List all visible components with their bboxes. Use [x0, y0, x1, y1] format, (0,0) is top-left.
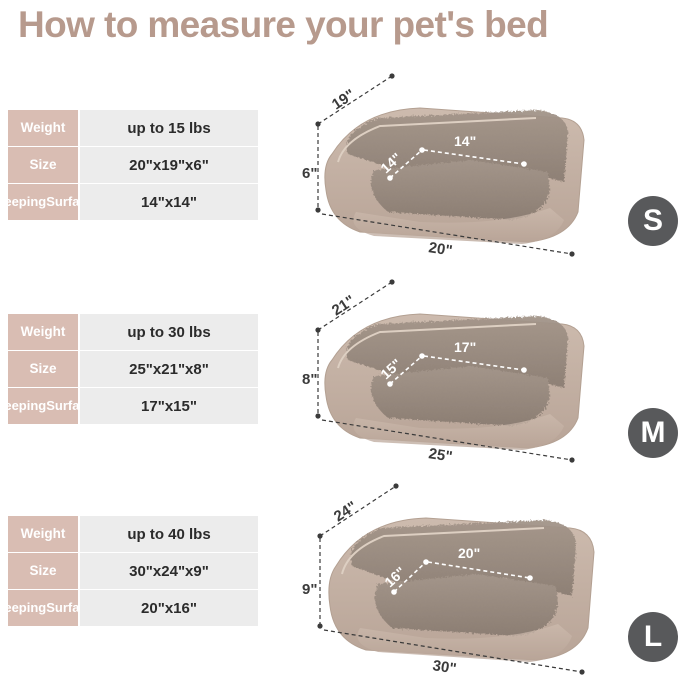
row-label-weight: Weight	[8, 516, 78, 552]
dimension-label-depth: 24"	[331, 498, 360, 525]
row-value-size: 25"x21"x8"	[80, 351, 258, 387]
dimension-label-inner-width: 14"	[454, 133, 476, 149]
bed-diagram-medium: 21" 8" 25" 15" 17"	[300, 268, 620, 468]
bed-diagram-small: 19" 6" 20" 14" 14"	[300, 62, 620, 262]
page-title: How to measure your pet's bed	[18, 4, 668, 46]
row-label-sleeping-surface: Sleeping Surface	[8, 388, 78, 424]
dimension-height: 6"	[302, 126, 321, 213]
table-row-weight: Weight up to 15 lbs	[8, 110, 258, 146]
dimension-label-width: 30"	[431, 657, 457, 678]
sleeping-label-line1: Sleeping	[0, 195, 46, 209]
sleeping-label-line1: Sleeping	[0, 601, 46, 615]
dimension-label-height: 6"	[302, 165, 317, 182]
row-value-size: 20"x19"x6"	[80, 147, 258, 183]
row-value-sleeping-surface: 20"x16"	[80, 590, 258, 626]
row-value-weight: up to 40 lbs	[80, 516, 258, 552]
row-value-weight: up to 30 lbs	[80, 314, 258, 350]
size-badge-medium: M	[628, 408, 678, 458]
dimension-height: 9"	[302, 538, 323, 629]
dimension-label-inner-width: 17"	[454, 339, 476, 355]
bed-illustration-small: 19" 6" 20" 14" 14"	[300, 62, 620, 262]
row-label-weight: Weight	[8, 314, 78, 350]
size-badge-small: S	[628, 196, 678, 246]
dimension-label-depth: 21"	[329, 292, 358, 319]
dimension-height: 8"	[302, 332, 321, 419]
dimension-label-width: 25"	[427, 445, 453, 466]
row-value-weight: up to 15 lbs	[80, 110, 258, 146]
bed-cushion	[371, 366, 550, 426]
dimension-label-width: 20"	[427, 239, 453, 260]
bed-illustration-medium: 21" 8" 25" 15" 17"	[300, 268, 620, 468]
sleeping-label-line1: Sleeping	[0, 399, 46, 413]
row-value-size: 30"x24"x9"	[80, 553, 258, 589]
row-value-sleeping-surface: 14"x14"	[80, 184, 258, 220]
dimension-label-height: 8"	[302, 371, 317, 388]
bed-cushion	[375, 574, 558, 636]
row-label-sleeping-surface: Sleeping Surface	[8, 184, 78, 220]
dimension-label-depth: 19"	[329, 86, 358, 113]
table-row-sleeping-surface: Sleeping Surface 14"x14"	[8, 184, 258, 220]
row-label-size: Size	[8, 553, 78, 589]
bed-cushion	[371, 160, 550, 220]
row-label-sleeping-surface: Sleeping Surface	[8, 590, 78, 626]
row-label-size: Size	[8, 351, 78, 387]
table-row-weight: Weight up to 40 lbs	[8, 516, 258, 552]
spec-table-small: Weight up to 15 lbs Size 20"x19"x6" Slee…	[8, 110, 258, 220]
table-row-size: Size 25"x21"x8"	[8, 351, 258, 387]
table-row-weight: Weight up to 30 lbs	[8, 314, 258, 350]
row-label-weight: Weight	[8, 110, 78, 146]
row-value-sleeping-surface: 17"x15"	[80, 388, 258, 424]
spec-table-medium: Weight up to 30 lbs Size 25"x21"x8" Slee…	[8, 314, 258, 424]
dimension-label-inner-width: 20"	[458, 545, 480, 561]
spec-table-large: Weight up to 40 lbs Size 30"x24"x9" Slee…	[8, 516, 258, 626]
bed-illustration-large: 24" 9" 30" 16" 20"	[300, 470, 630, 682]
dimension-label-height: 9"	[302, 581, 317, 598]
table-row-size: Size 30"x24"x9"	[8, 553, 258, 589]
row-label-size: Size	[8, 147, 78, 183]
table-row-sleeping-surface: Sleeping Surface 17"x15"	[8, 388, 258, 424]
bed-diagram-large: 24" 9" 30" 16" 20"	[300, 470, 630, 682]
table-row-sleeping-surface: Sleeping Surface 20"x16"	[8, 590, 258, 626]
table-row-size: Size 20"x19"x6"	[8, 147, 258, 183]
size-badge-large: L	[628, 612, 678, 662]
